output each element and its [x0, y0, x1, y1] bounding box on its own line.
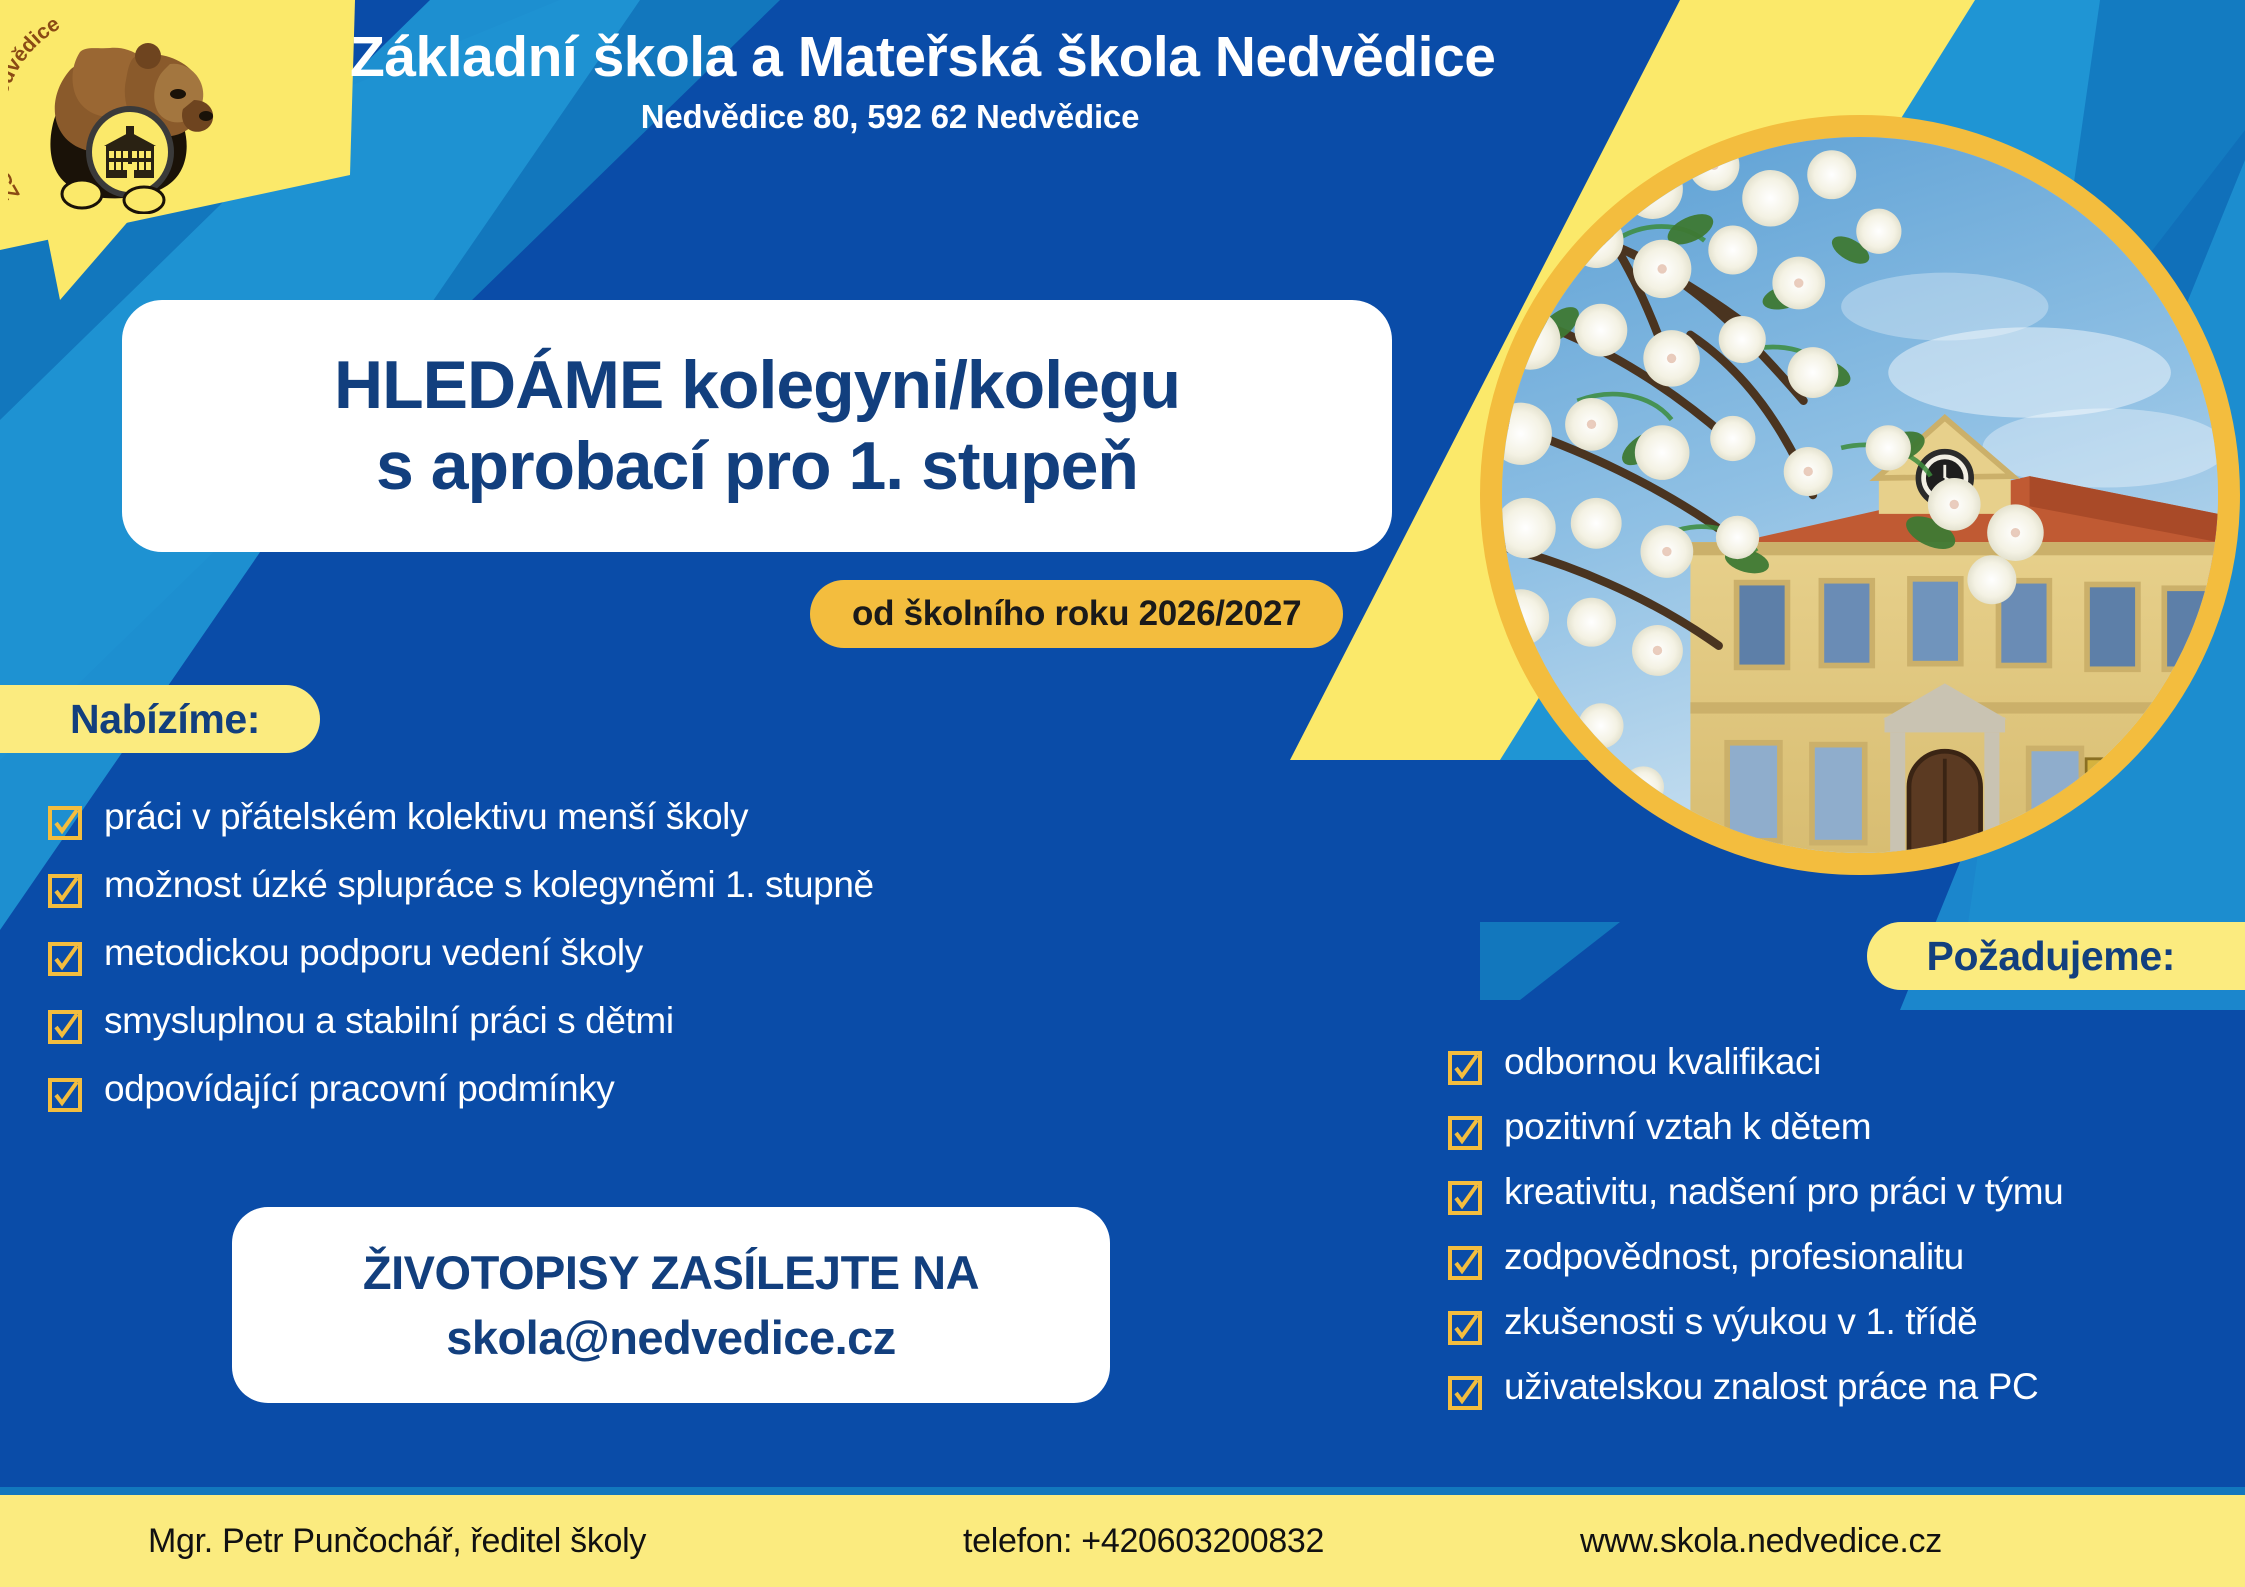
- checkbox-checked-icon: [48, 1010, 82, 1044]
- checkbox-checked-icon: [48, 874, 82, 908]
- footer-top-strip: [0, 1487, 2245, 1495]
- list-item: práci v přátelském kolektivu menší školy: [48, 798, 874, 840]
- school-year-badge: od školního roku 2026/2027: [810, 580, 1343, 648]
- bear-crest-icon: ZŠ a MŠ Nedvědice: [8, 4, 238, 214]
- checkbox-checked-icon: [1448, 1116, 1482, 1150]
- list-item-label: metodickou podporu vedení školy: [104, 934, 643, 973]
- list-item: pozitivní vztah k dětem: [1448, 1108, 2063, 1150]
- poster-footer: Mgr. Petr Punčochář, ředitel školy telef…: [0, 1495, 2245, 1587]
- list-item: metodickou podporu vedení školy: [48, 934, 874, 976]
- school-logo: ZŠ a MŠ Nedvědice: [8, 4, 238, 214]
- list-item: smysluplnou a stabilní práci s dětmi: [48, 1002, 874, 1044]
- footer-website[interactable]: www.skola.nedvedice.cz: [1580, 1522, 1942, 1561]
- checkbox-checked-icon: [48, 1078, 82, 1112]
- headline-card: HLEDÁME kolegyni/kolegu s aprobací pro 1…: [122, 300, 1392, 552]
- list-item: odpovídající pracovní podmínky: [48, 1070, 874, 1112]
- list-item-label: pozitivní vztah k dětem: [1504, 1108, 1871, 1147]
- list-item: možnost úzké splupráce s kolegyněmi 1. s…: [48, 866, 874, 908]
- headline-line-2: s aprobací pro 1. stupeň: [376, 429, 1138, 504]
- offer-heading-pill: Nabízíme:: [0, 685, 320, 753]
- cv-email-link[interactable]: skola@nedvedice.cz: [446, 1310, 896, 1365]
- school-building-photo: [1480, 115, 2240, 875]
- list-item-label: odpovídající pracovní podmínky: [104, 1070, 614, 1109]
- headline-line-1: HLEDÁME kolegyni/kolegu: [334, 348, 1180, 423]
- footer-phone[interactable]: telefon: +420603200832: [963, 1522, 1324, 1561]
- checkbox-checked-icon: [48, 942, 82, 976]
- school-address: Nedvědice 80, 592 62 Nedvědice: [350, 98, 1430, 136]
- list-item: kreativitu, nadšení pro práci v týmu: [1448, 1173, 2063, 1215]
- list-item-label: možnost úzké splupráce s kolegyněmi 1. s…: [104, 866, 874, 905]
- list-item-label: zodpovědnost, profesionalitu: [1504, 1238, 1964, 1277]
- list-item-label: práci v přátelském kolektivu menší školy: [104, 798, 748, 837]
- list-item: odbornou kvalifikaci: [1448, 1043, 2063, 1085]
- bear-figure: [50, 43, 213, 213]
- list-item: zodpovědnost, profesionalitu: [1448, 1238, 2063, 1280]
- checkbox-checked-icon: [1448, 1051, 1482, 1085]
- list-item: uživatelskou znalost práce na PC: [1448, 1368, 2063, 1410]
- checkbox-checked-icon: [1448, 1376, 1482, 1410]
- requirements-heading-pill: Požadujeme:: [1867, 922, 2245, 990]
- list-item-label: uživatelskou znalost práce na PC: [1504, 1368, 2038, 1407]
- checkbox-checked-icon: [1448, 1181, 1482, 1215]
- cv-instruction: ŽIVOTOPISY ZASÍLEJTE NA: [363, 1245, 979, 1300]
- list-item-label: kreativitu, nadšení pro práci v týmu: [1504, 1173, 2063, 1212]
- photo-illustration: [1502, 137, 2218, 853]
- checkbox-checked-icon: [1448, 1311, 1482, 1345]
- list-item: zkušenosti s výukou v 1. třídě: [1448, 1303, 2063, 1345]
- list-item-label: odbornou kvalifikaci: [1504, 1043, 1821, 1082]
- requirements-list: odbornou kvalifikaci pozitivní vztah k d…: [1448, 1043, 2063, 1433]
- cv-contact-card: ŽIVOTOPISY ZASÍLEJTE NA skola@nedvedice.…: [232, 1207, 1110, 1403]
- offer-list: práci v přátelském kolektivu menší školy…: [48, 798, 874, 1138]
- list-item-label: zkušenosti s výukou v 1. třídě: [1504, 1303, 1977, 1342]
- checkbox-checked-icon: [48, 806, 82, 840]
- recruitment-poster: ZŠ a MŠ Nedvědice: [0, 0, 2245, 1587]
- footer-director-name: Mgr. Petr Punčochář, ředitel školy: [148, 1522, 646, 1561]
- list-item-label: smysluplnou a stabilní práci s dětmi: [104, 1002, 674, 1041]
- poster-header: Základní škola a Mateřská škola Nedvědic…: [350, 28, 1430, 136]
- checkbox-checked-icon: [1448, 1246, 1482, 1280]
- school-title: Základní škola a Mateřská škola Nedvědic…: [350, 28, 1430, 88]
